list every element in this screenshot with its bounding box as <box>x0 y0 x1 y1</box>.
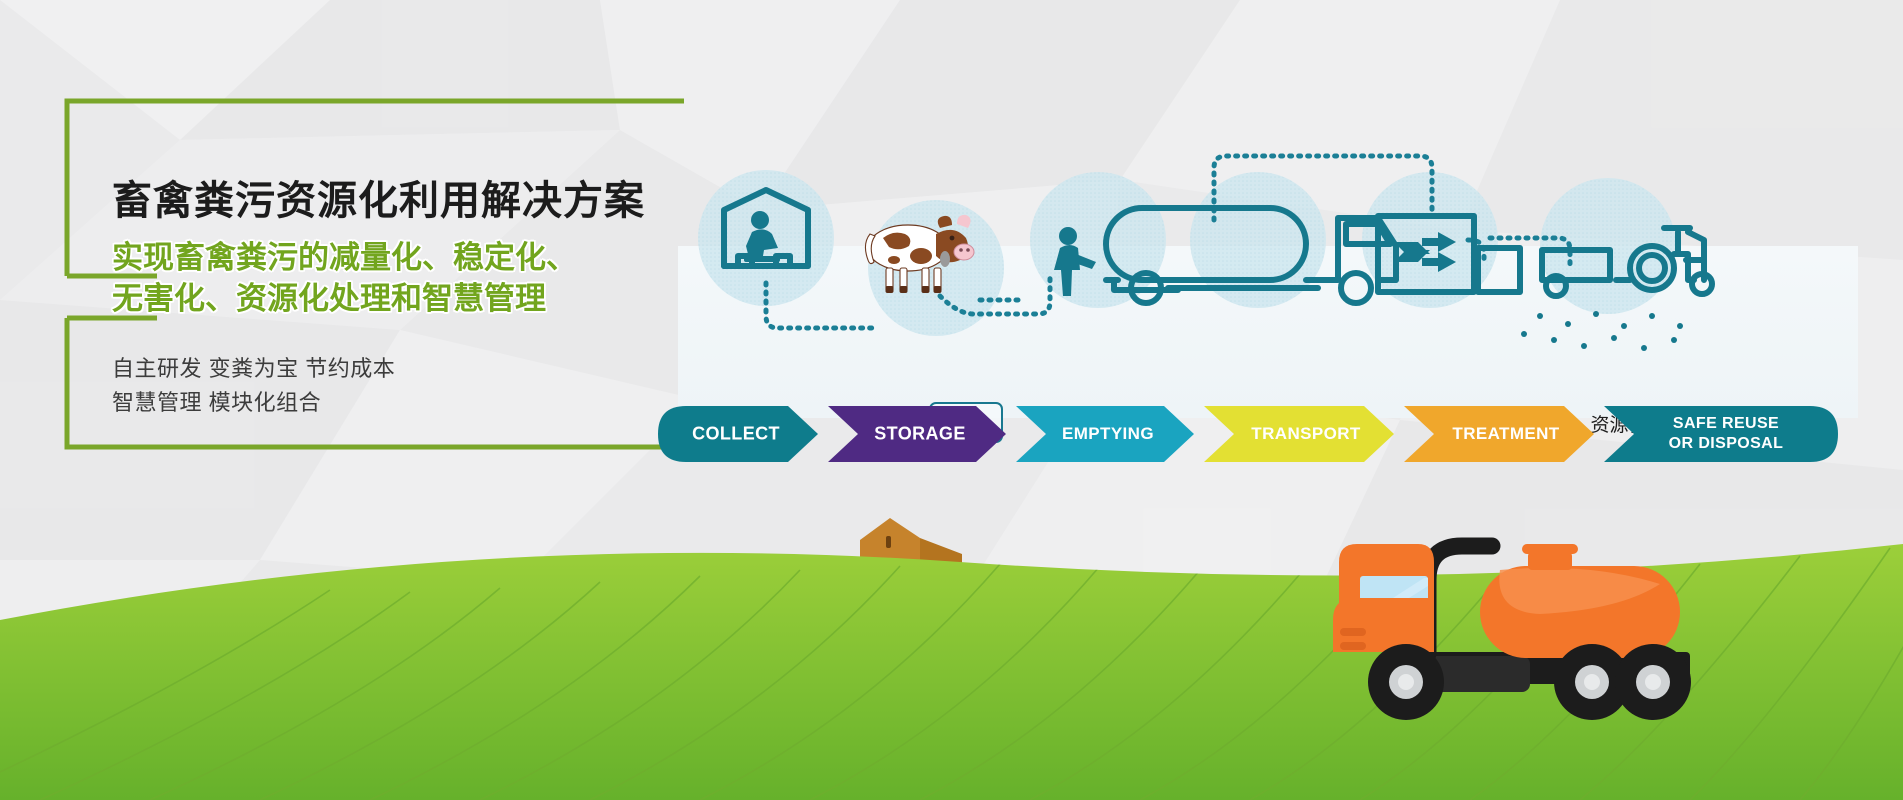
chevron-label-emptying: EMPTYING <box>1062 424 1154 444</box>
chevron-label-storage: STORAGE <box>874 424 965 445</box>
headline-block: 畜禽粪污资源化利用解决方案 实现畜禽粪污的减量化、稳定化、 无害化、资源化处理和… <box>112 178 712 320</box>
landscape-scene <box>0 470 1903 800</box>
banner-root: 畜禽粪污资源化利用解决方案 实现畜禽粪污的减量化、稳定化、 无害化、资源化处理和… <box>0 0 1903 800</box>
subheadline-line-1: 实现畜禽粪污的减量化、稳定化、 <box>112 238 712 279</box>
icon-backdrop-circles <box>698 170 1676 336</box>
tagline-line-1: 自主研发 变粪为宝 节约成本 <box>112 352 672 386</box>
chevron-label-treatment: TREATMENT <box>1452 424 1559 444</box>
subheadline-line-2: 无害化、资源化处理和智慧管理 <box>112 279 712 320</box>
chevron-shapes <box>658 406 1838 462</box>
orange-tanker-truck-illustration <box>1333 472 1691 720</box>
spread-particles <box>1521 311 1683 351</box>
chevron-label-safe-reuse-line1: SAFE REUSE <box>1673 415 1779 433</box>
process-chevron-bar: COLLECT STORAGE EMPTYING TRANSPORT TREAT… <box>658 406 1838 462</box>
diagram-icons <box>678 128 1858 418</box>
page-title: 畜禽粪污资源化利用解决方案 <box>112 178 712 224</box>
chevron-label-transport: TRANSPORT <box>1251 424 1360 444</box>
subheadline: 实现畜禽粪污的减量化、稳定化、 无害化、资源化处理和智慧管理 <box>112 238 712 320</box>
process-diagram: 收集 储存 清空 运输 处理 资源再利用 <box>678 128 1858 418</box>
tagline-line-2: 智慧管理 模块化组合 <box>112 386 672 420</box>
tagline-block: 自主研发 变粪为宝 节约成本 智慧管理 模块化组合 <box>112 352 672 420</box>
chevron-label-safe-reuse-line2: OR DISPOSAL <box>1669 435 1784 453</box>
chevron-label-collect: COLLECT <box>692 424 780 445</box>
